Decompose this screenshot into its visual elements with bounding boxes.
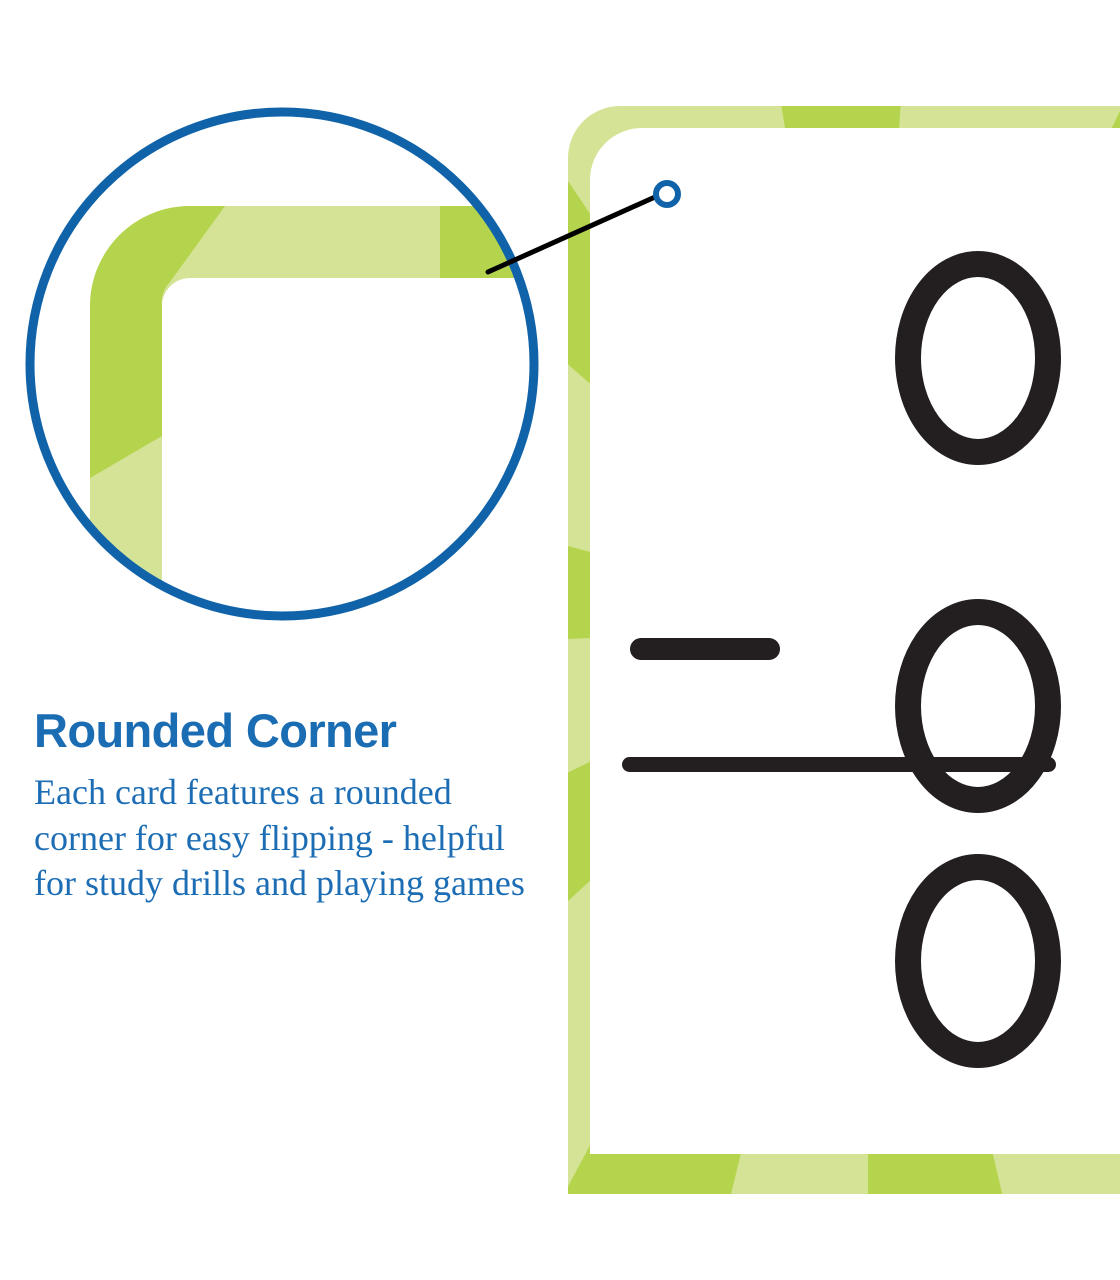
magnifier-bubble <box>20 106 544 630</box>
feature-text-block: Rounded Corner Each card features a roun… <box>34 706 554 907</box>
answer-rule <box>622 757 1056 772</box>
infographic-canvas: Rounded Corner Each card features a roun… <box>0 0 1120 1280</box>
magnified-corner-detail <box>20 106 544 630</box>
page-title: Rounded Corner <box>34 706 554 756</box>
feature-description: Each card features a rounded corner for … <box>34 770 539 907</box>
flashcard <box>568 106 1120 1194</box>
operator-minus <box>630 638 780 660</box>
